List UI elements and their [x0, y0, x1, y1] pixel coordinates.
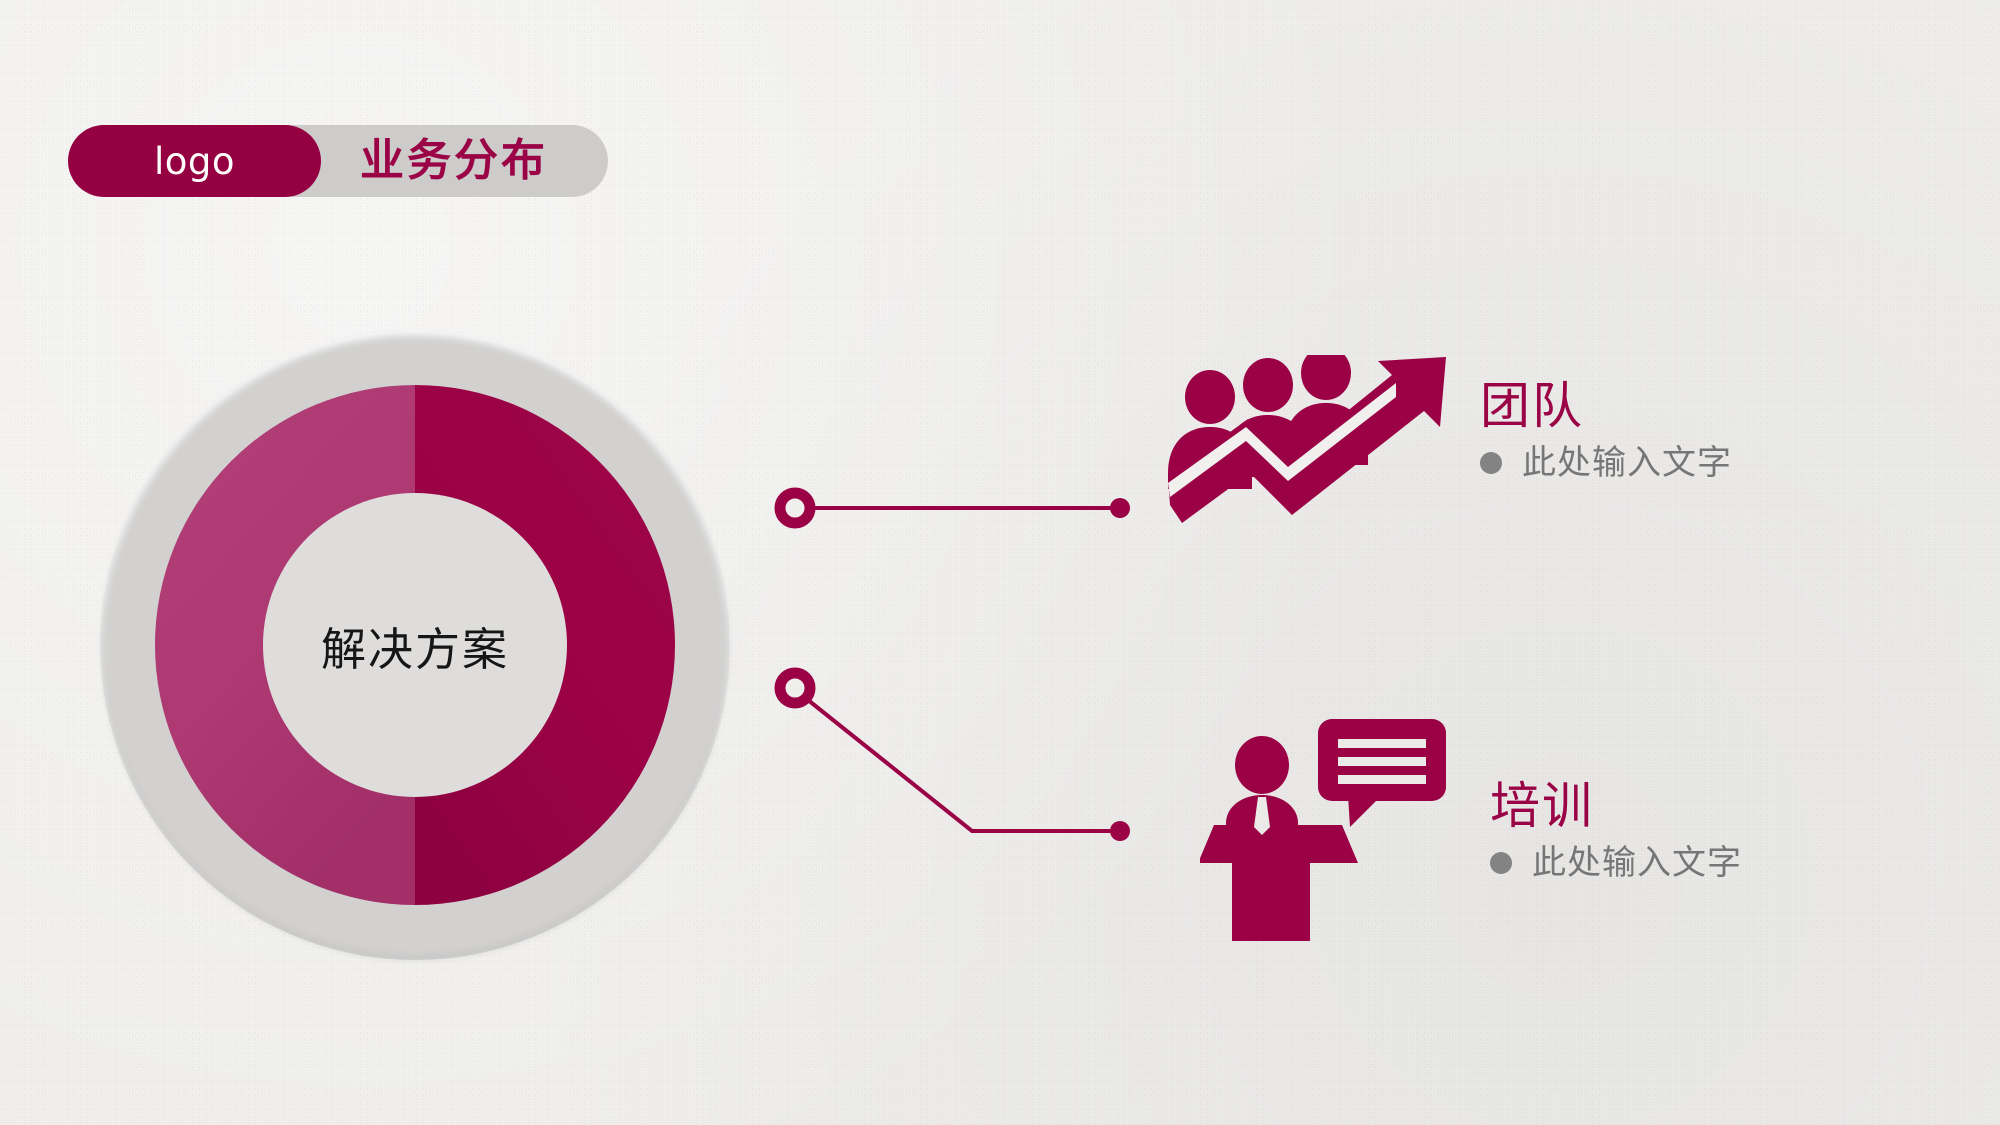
item-title-team: 团队: [1480, 380, 1732, 433]
bullet-icon: [1480, 452, 1502, 474]
slide-header: logo 业务分布: [68, 125, 548, 197]
page-title: 业务分布: [321, 125, 548, 197]
logo-badge[interactable]: logo: [68, 125, 321, 197]
speaker-podium-icon: [1200, 715, 1450, 949]
item-body-training: 此处输入文字: [1490, 846, 1742, 880]
connector-node-training[interactable]: [780, 673, 810, 703]
connector-enddot-training: [1110, 821, 1130, 841]
team-growth-icon: [1160, 355, 1450, 539]
logo-label: logo: [154, 143, 235, 180]
item-desc-training: 此处输入文字: [1532, 846, 1742, 880]
item-desc-team: 此处输入文字: [1522, 446, 1732, 480]
item-text-training: 培训 此处输入文字: [1490, 780, 1742, 880]
connector-node-team[interactable]: [780, 493, 810, 523]
connector-line-training: [803, 696, 1120, 831]
slide-canvas: logo 业务分布 解: [0, 0, 2000, 1125]
connector-enddot-team: [1110, 498, 1130, 518]
item-title-training: 培训: [1490, 780, 1742, 833]
bullet-icon: [1490, 852, 1512, 874]
item-text-team: 团队 此处输入文字: [1480, 380, 1732, 480]
item-body-team: 此处输入文字: [1480, 446, 1732, 480]
